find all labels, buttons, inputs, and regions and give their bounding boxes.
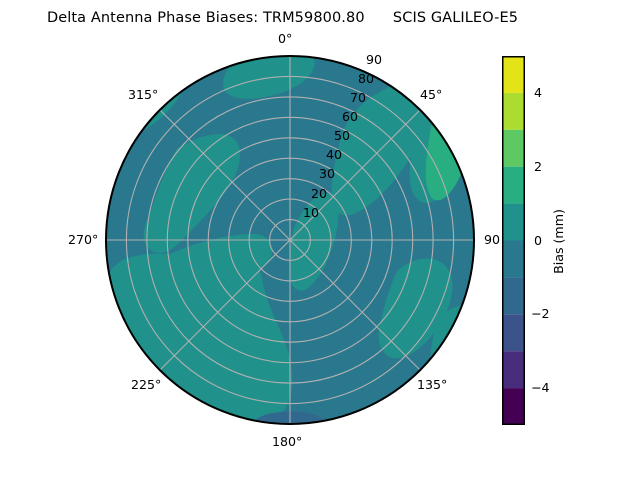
theta-label-45: 45° bbox=[420, 87, 442, 102]
colorbar-axis-label: Bias (mm) bbox=[551, 209, 566, 274]
r-label-80: 80 bbox=[358, 71, 374, 86]
theta-label-270: 270° bbox=[68, 232, 98, 247]
theta-label-315: 315° bbox=[128, 87, 158, 102]
theta-label-135: 135° bbox=[417, 377, 447, 392]
r-label-90: 90 bbox=[366, 52, 382, 67]
r-label-30: 30 bbox=[319, 166, 335, 181]
contour-fills bbox=[82, 46, 492, 457]
r-label-60: 60 bbox=[342, 109, 358, 124]
r-label-70: 70 bbox=[350, 90, 366, 105]
colorbar-tick-neg2: −2 bbox=[531, 306, 550, 321]
colorbar-bands bbox=[502, 56, 525, 425]
colorbar-tick-0: 0 bbox=[534, 233, 542, 248]
contour-patch-sw-outer bbox=[82, 360, 151, 434]
r-label-50: 50 bbox=[334, 128, 350, 143]
r-label-20: 20 bbox=[311, 186, 327, 201]
figure-canvas: Delta Antenna Phase Biases: TRM59800.80 … bbox=[0, 0, 640, 480]
colorbar-tick-2: 2 bbox=[534, 159, 542, 174]
colorbar-tick-4: 4 bbox=[534, 85, 542, 100]
r-label-40: 40 bbox=[326, 147, 342, 162]
polar-grid bbox=[106, 56, 474, 424]
theta-label-180: 180° bbox=[272, 434, 302, 449]
colorbar-tick-neg4: −4 bbox=[531, 380, 550, 395]
contour-patch-ne-bright bbox=[426, 87, 478, 200]
colorbar bbox=[502, 56, 525, 425]
r-label-10: 10 bbox=[303, 205, 319, 220]
theta-label-0: 0° bbox=[278, 31, 292, 46]
theta-label-225: 225° bbox=[131, 377, 161, 392]
theta-label-90: 90 bbox=[484, 232, 500, 247]
colorbar-gradient bbox=[502, 56, 525, 425]
